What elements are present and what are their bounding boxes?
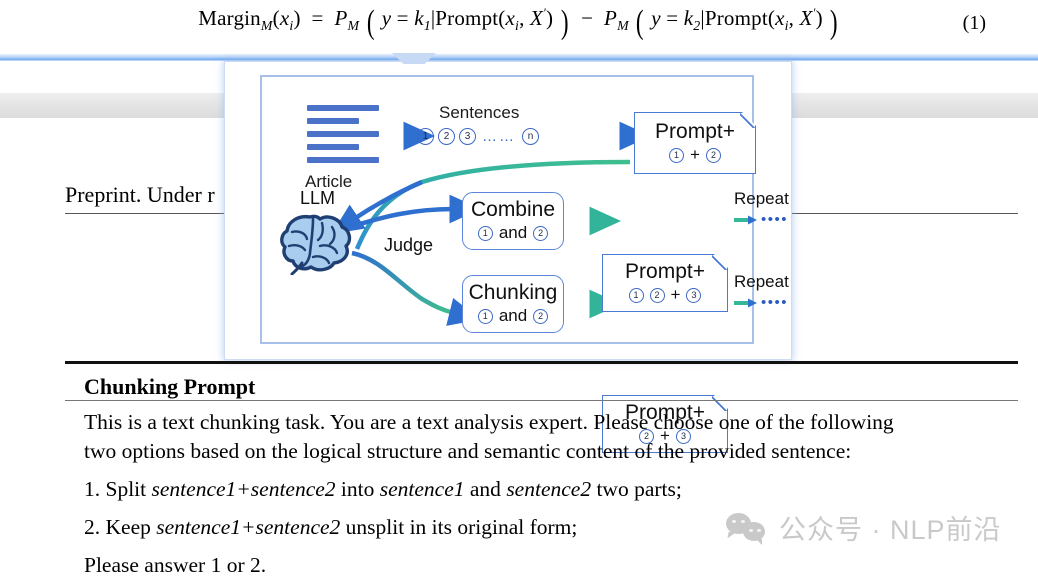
circle-2: 2 (650, 288, 665, 303)
chunking-box-title: Chunking (469, 282, 558, 304)
diagram-overlay-panel[interactable]: Article Sentences 1 2 3 …… n LLM (225, 62, 791, 359)
prompt-box-1-title: Prompt+ (655, 121, 735, 143)
wechat-icon (726, 513, 768, 543)
chunking-prompt-body: This is a text chunking task. You are a … (84, 408, 1009, 580)
prompt-box-1[interactable]: Prompt+ 1 + 2 (634, 112, 756, 174)
equation-formula: MarginM(xi) = PM ( y = k1|Prompt(xi, X′)… (198, 6, 840, 36)
sentences-label: Sentences (439, 103, 519, 123)
circle-2: 2 (533, 226, 548, 241)
prompt-box-2-title: Prompt+ (625, 261, 705, 283)
llm-label: LLM (300, 188, 335, 209)
repeat-group-1: Repeat •••• (734, 190, 806, 228)
sentence-circle-1: 1 (417, 128, 434, 145)
option-2-italic-1: sentence1+sentence2 (156, 515, 340, 539)
option-1-mid-2: and (465, 477, 507, 501)
prompt-box-2-sub: 1 2 + 3 (629, 285, 702, 305)
diagram-tab-handle[interactable] (392, 53, 436, 64)
combine-box-sub: 1 and 2 (478, 223, 548, 243)
circle-1: 1 (669, 148, 684, 163)
brain-icon (280, 213, 356, 275)
option-1-italic-2: sentence1 (380, 477, 465, 501)
option-1-prefix: 1. Split (84, 477, 152, 501)
repeat-dots-2: •••• (761, 294, 788, 311)
and-op: and (499, 223, 527, 243)
prompt-rule-top (65, 361, 1018, 364)
equation-band: MarginM(xi) = PM ( y = k1|Prompt(xi, X′)… (0, 0, 1038, 54)
prompt-line-1: This is a text chunking task. You are a … (84, 408, 1009, 437)
option-1-mid: into (336, 477, 380, 501)
circle-1: 1 (478, 309, 493, 324)
plus-op: + (690, 145, 700, 165)
option-1-italic-1: sentence1+sentence2 (152, 477, 336, 501)
equation-number: (1) (963, 12, 986, 35)
preprint-notice: Preprint. Under r (65, 182, 215, 208)
sentence-circle-n: n (522, 128, 539, 145)
watermark-text: 公众号 · NLP前沿 (779, 508, 1002, 547)
circle-3: 3 (686, 288, 701, 303)
repeat-arrow-icon (734, 297, 758, 309)
option-1-italic-3: sentence2 (506, 477, 591, 501)
repeat-dots-1: •••• (761, 211, 788, 228)
equation-row: MarginM(xi) = PM ( y = k1|Prompt(xi, X′)… (0, 6, 1038, 36)
repeat-arrow-row-2: •••• (734, 294, 806, 311)
combine-box[interactable]: Combine 1 and 2 (462, 192, 564, 250)
article-icon (307, 105, 379, 170)
sentence-circle-2: 2 (438, 128, 455, 145)
sentences-row: 1 2 3 …… n (417, 128, 539, 145)
prompt-box-1-sub: 1 + 2 (669, 145, 721, 165)
prompt-rule-mid (65, 400, 1018, 401)
option-1-suffix: two parts; (591, 477, 682, 501)
chunking-prompt-title: Chunking Prompt (84, 374, 255, 400)
chunking-box[interactable]: Chunking 1 and 2 (462, 275, 564, 333)
repeat-group-2: Repeat •••• (734, 273, 806, 311)
prompt-closing: Please answer 1 or 2. (84, 551, 1009, 580)
combine-box-title: Combine (471, 199, 555, 221)
prompt-line-2: two options based on the logical structu… (84, 437, 1009, 466)
judge-label: Judge (384, 235, 433, 256)
circle-1: 1 (478, 226, 493, 241)
repeat-label-2: Repeat (734, 273, 806, 290)
prompt-option-1: 1. Split sentence1+sentence2 into senten… (84, 475, 1009, 504)
repeat-label-1: Repeat (734, 190, 806, 207)
sentences-ellipsis: …… (480, 128, 518, 145)
option-2-suffix: unsplit in its original form; (340, 515, 577, 539)
prompt-box-2[interactable]: Prompt+ 1 2 + 3 (602, 254, 728, 312)
circle-2: 2 (533, 309, 548, 324)
circle-1: 1 (629, 288, 644, 303)
watermark: 公众号 · NLP前沿 (726, 508, 1002, 547)
diagram-frame: Article Sentences 1 2 3 …… n LLM (260, 75, 754, 344)
option-2-prefix: 2. Keep (84, 515, 156, 539)
sentence-circle-3: 3 (459, 128, 476, 145)
repeat-arrow-icon (734, 214, 758, 226)
plus-op: + (671, 285, 681, 305)
repeat-arrow-row-1: •••• (734, 211, 806, 228)
chunking-box-sub: 1 and 2 (478, 306, 548, 326)
and-op: and (499, 306, 527, 326)
circle-2: 2 (706, 148, 721, 163)
blue-divider-rule (0, 54, 1038, 61)
